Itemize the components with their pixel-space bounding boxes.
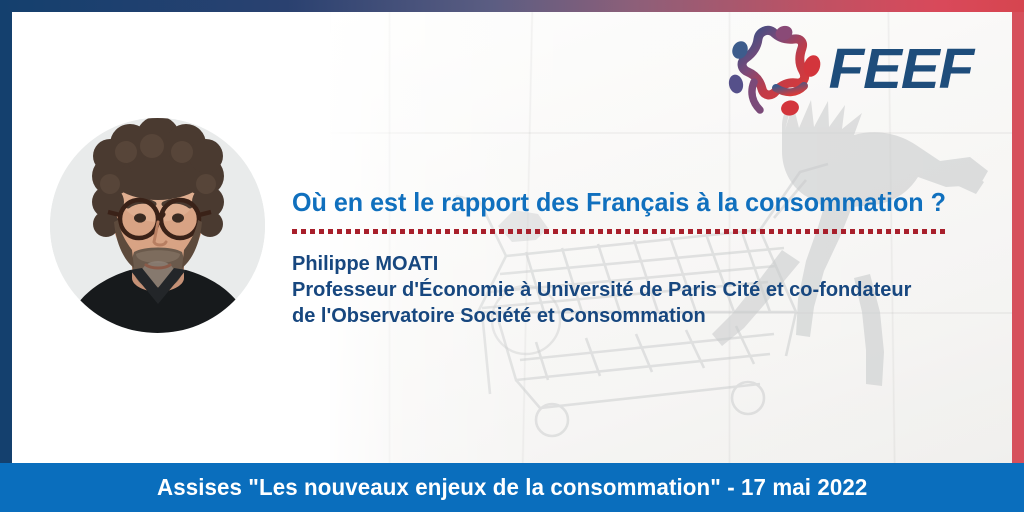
presentation-slide: FEEF Où en est le rapport des Français à… <box>0 0 1024 512</box>
page-title: Où en est le rapport des Français à la c… <box>292 188 979 217</box>
feef-logo: FEEF <box>724 22 986 116</box>
feef-wordmark: FEEF <box>829 41 974 98</box>
left-navy-border <box>0 12 12 463</box>
banner-text: Assises "Les nouveaux enjeux de la conso… <box>157 474 867 501</box>
top-gradient-bar <box>0 0 1024 12</box>
speaker-info: Philippe MOATI Professeur d'Économie à U… <box>292 251 1004 330</box>
right-red-border <box>1012 12 1024 463</box>
bottom-banner: Assises "Les nouveaux enjeux de la conso… <box>0 463 1024 512</box>
speaker-role: Professeur d'Économie à Université de Pa… <box>292 277 940 330</box>
text-block: Où en est le rapport des Français à la c… <box>292 188 1004 330</box>
dotted-divider <box>292 229 946 234</box>
feef-star-emblem-icon <box>724 22 826 116</box>
avatar <box>50 118 265 333</box>
speaker-name: Philippe MOATI <box>292 251 1004 277</box>
